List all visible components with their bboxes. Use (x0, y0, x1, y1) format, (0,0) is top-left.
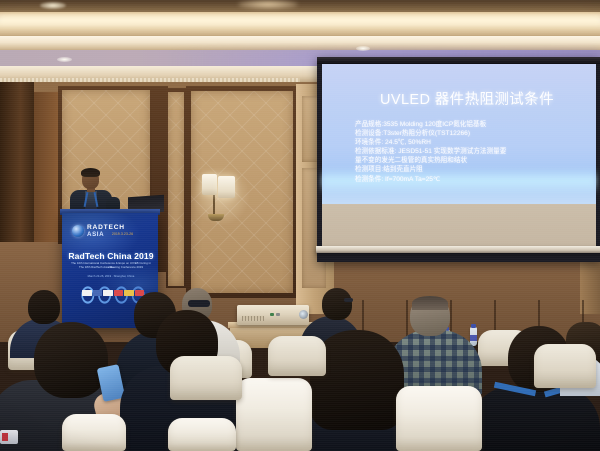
projector-power-indicator[interactable] (270, 313, 274, 316)
slide-line: 检测依据标准: JESD51-51 实现数学测试方法测量要 (355, 147, 585, 156)
slide-line: 检测项目:结到壳直片阻 (355, 165, 585, 174)
audience-head (34, 322, 108, 398)
logo-asia-text: ASIA (87, 231, 104, 238)
sconce-lamp-icon (202, 174, 217, 195)
event-subtitle-2: The 18th RadTech Asia Meeting Conference… (68, 265, 154, 269)
ceiling-light-icon (40, 2, 66, 9)
sponsor-logo (82, 290, 92, 296)
speaker-hair (81, 168, 100, 177)
conference-photo: UVLED 器件热阻测试条件 产品规格:3535 Molding 120度ICP… (0, 0, 600, 451)
slide-line: 环境条件: 24.5℃, 50%RH (355, 138, 585, 147)
slide-body: 产品规格:3535 Molding 120度ICP氮化铝基板 检测设备:T3st… (355, 120, 585, 184)
event-title: RadTech China 2019 (68, 251, 154, 261)
audience-hair (412, 296, 448, 310)
slide-line: 检测设备:T3ster热阻分析仪(TST12266) (355, 129, 585, 138)
diamond-fabric-panel (168, 92, 184, 286)
audience-head (322, 288, 352, 320)
screen-top-bar (317, 57, 600, 64)
slide-line: 量不变的发光二极管的真实热阻和结状 (355, 156, 585, 165)
projector-button[interactable] (276, 313, 280, 316)
banquet-chair (168, 418, 236, 451)
lens-icon (299, 310, 308, 319)
slide-line: 检测条件: If=700mA Ta=25℃ (355, 175, 585, 184)
glasses-icon (344, 298, 353, 302)
sconce-lamp-icon (218, 176, 235, 198)
slide-title: UVLED 器件热阻测试条件 (380, 88, 580, 109)
downlight-icon (57, 57, 72, 62)
screen-bottom-rail (316, 246, 600, 253)
radtech-logo: RADTECH ASIA 2019.3.23-26 (72, 224, 150, 238)
slide-line: 产品规格:3535 Molding 120度ICP氮化铝基板 (355, 120, 585, 129)
screen-lower-blank (322, 204, 596, 246)
sponsor-logo (93, 290, 103, 296)
banquet-chair (396, 386, 482, 451)
banquet-chair (268, 336, 326, 376)
projector-vent (242, 316, 264, 321)
downlight-icon (356, 46, 370, 51)
sponsor-logo (124, 290, 134, 296)
banquet-chair (534, 344, 596, 388)
banquet-chair (62, 414, 126, 451)
banquet-chair (170, 356, 242, 400)
logo-radtech-text: RADTECH (87, 224, 125, 231)
badge-stripe (2, 433, 8, 441)
cove-lighting-glow (0, 14, 600, 26)
sponsor-logo-strip (82, 290, 144, 302)
ceiling-soffit (0, 0, 600, 12)
banquet-chair (236, 378, 312, 451)
wood-door-left (34, 92, 60, 242)
sponsor-logo (114, 290, 124, 296)
wood-column-left (0, 82, 34, 242)
sponsor-logo (103, 290, 113, 296)
globe-icon (72, 225, 84, 237)
audience-head (28, 290, 60, 324)
bottle-label (470, 335, 477, 341)
logo-asia-subtext: 2019.3.23-26 (112, 232, 133, 236)
ceiling-light-icon (238, 0, 298, 9)
sunglasses-icon (188, 300, 210, 307)
event-date: March 23-26, 2019 · Shanghai, China (68, 274, 154, 278)
bottle-cap (471, 324, 476, 328)
